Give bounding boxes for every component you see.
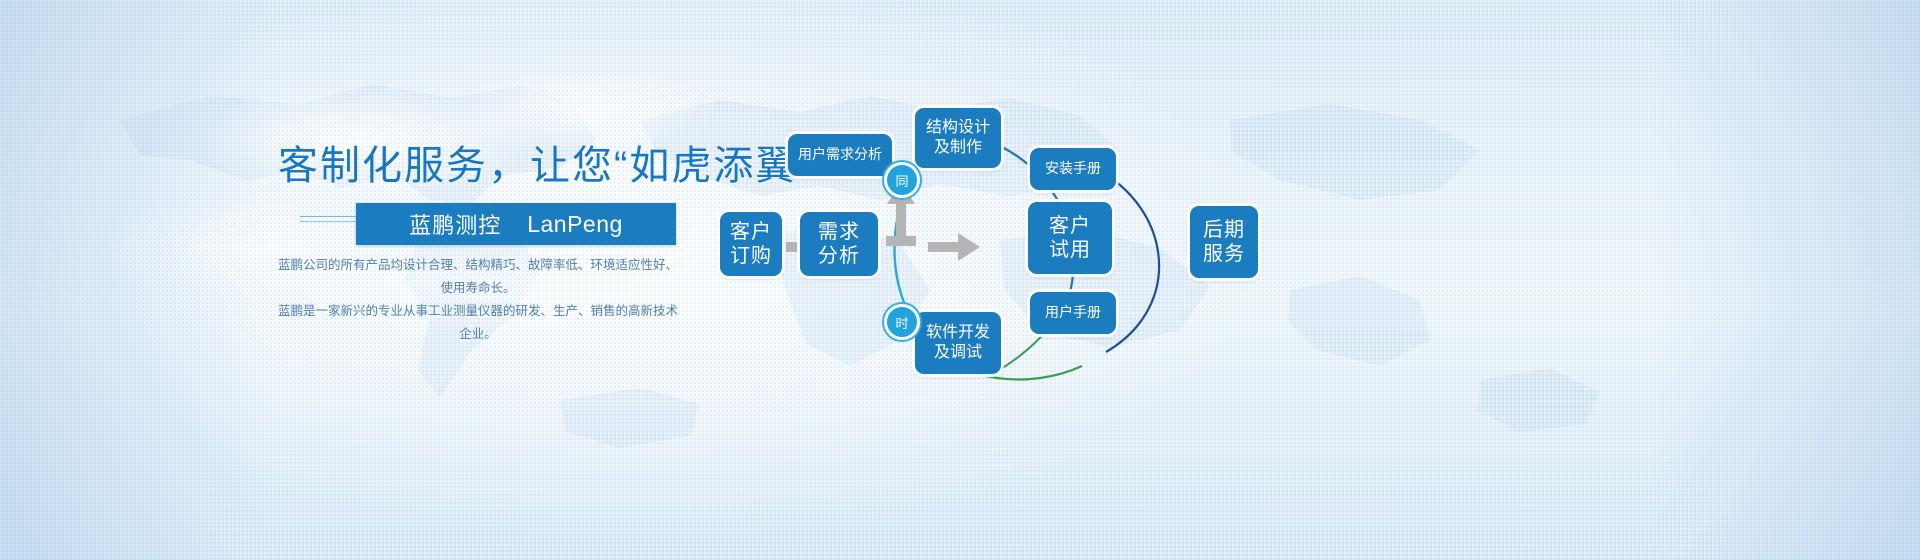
- node-customer-order-label: 客户订购: [730, 220, 772, 269]
- circle-node-tong[interactable]: 同: [884, 162, 920, 198]
- process-flow-diagram: 客户订购 需求分析 用户需求分析 结构设计及制作 软件开发及调试 安装手册 客户…: [700, 90, 1300, 410]
- brand-block: 蓝鹏测控 LanPeng: [300, 205, 700, 243]
- node-demand-analysis[interactable]: 需求分析: [800, 212, 878, 276]
- banner-description: 蓝鹏公司的所有产品均设计合理、结构精巧、故障率低、环境适应性好、使用寿命长。 蓝…: [278, 254, 678, 346]
- brand-name-en: LanPeng: [527, 211, 623, 238]
- brand-decorative-lines: [300, 214, 362, 226]
- node-structure-design-label: 结构设计及制作: [926, 118, 990, 157]
- node-user-manual[interactable]: 用户手册: [1030, 292, 1116, 334]
- node-installation-manual-label: 安装手册: [1045, 160, 1101, 177]
- brand-name-cn: 蓝鹏测控: [409, 208, 501, 240]
- arrow-analysis-to-cycle: [928, 233, 980, 261]
- node-customer-trial-label: 客户试用: [1049, 214, 1091, 263]
- circle-node-shi-label: 时: [895, 313, 908, 332]
- node-after-service[interactable]: 后期服务: [1190, 206, 1258, 278]
- node-structure-design[interactable]: 结构设计及制作: [915, 108, 1001, 168]
- node-user-requirement-analysis-label: 用户需求分析: [798, 146, 882, 163]
- node-user-requirement-analysis[interactable]: 用户需求分析: [788, 134, 892, 176]
- node-customer-trial[interactable]: 客户试用: [1028, 202, 1112, 274]
- node-software-development[interactable]: 软件开发及调试: [915, 312, 1001, 374]
- node-after-service-label: 后期服务: [1203, 218, 1245, 267]
- banner-stage: 客制化服务，让您“如虎添翼” 蓝鹏测控 LanPeng 蓝鹏公司的所有产品均设计…: [0, 0, 1920, 560]
- brand-bar: 蓝鹏测控 LanPeng: [356, 203, 676, 245]
- description-line-2: 蓝鹏是一家新兴的专业从事工业测量仪器的研发、生产、销售的高新技术企业。: [278, 300, 678, 346]
- circle-node-tong-label: 同: [895, 171, 908, 190]
- node-demand-analysis-label: 需求分析: [818, 220, 860, 269]
- description-line-1: 蓝鹏公司的所有产品均设计合理、结构精巧、故障率低、环境适应性好、使用寿命长。: [278, 254, 678, 300]
- node-customer-order[interactable]: 客户订购: [720, 212, 782, 276]
- node-software-development-label: 软件开发及调试: [926, 323, 990, 362]
- node-installation-manual[interactable]: 安装手册: [1030, 148, 1116, 190]
- circle-node-shi[interactable]: 时: [884, 304, 920, 340]
- node-user-manual-label: 用户手册: [1045, 304, 1101, 321]
